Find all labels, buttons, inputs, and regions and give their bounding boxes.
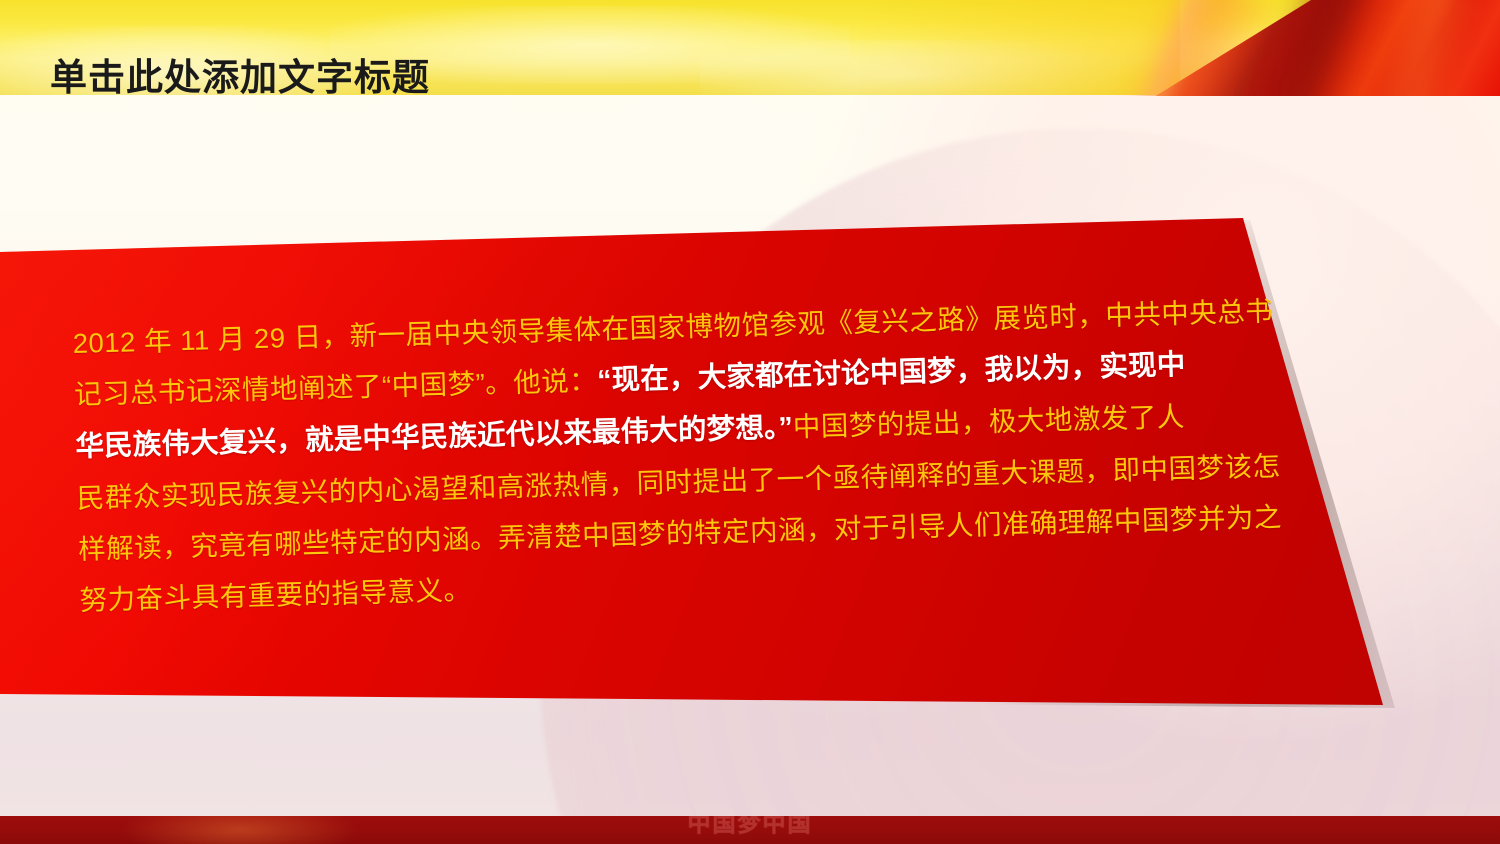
quoted-emphasis-text: “现在，大家都在讨论中国梦，我以为，实现中 (597, 349, 1186, 397)
footer-glow (120, 816, 360, 844)
body-text: 记习总书记深情地阐述了“中国梦”。他说： (74, 365, 598, 410)
body-paragraph[interactable]: 2012 年 11 月 29 日，新一届中央领导集体在国家博物馆参观《复兴之路》… (72, 286, 1248, 625)
red-silk-ribbon-decoration (1080, 0, 1500, 96)
presentation-slide: 单击此处添加文字标题 2012 年 11 月 29 日，新一届中央领导集体在国家… (0, 0, 1500, 844)
body-text: 中国梦的提出，极大地激发了人 (792, 401, 1185, 443)
page-title[interactable]: 单击此处添加文字标题 (50, 55, 430, 101)
quoted-emphasis-text: 华民族伟大复兴，就是中华民族近代以来最伟大的梦想。” (75, 412, 793, 463)
footer-band: 中国梦中国 (0, 816, 1500, 844)
body-text: 努力奋斗具有重要的指导意义。 (79, 574, 472, 616)
